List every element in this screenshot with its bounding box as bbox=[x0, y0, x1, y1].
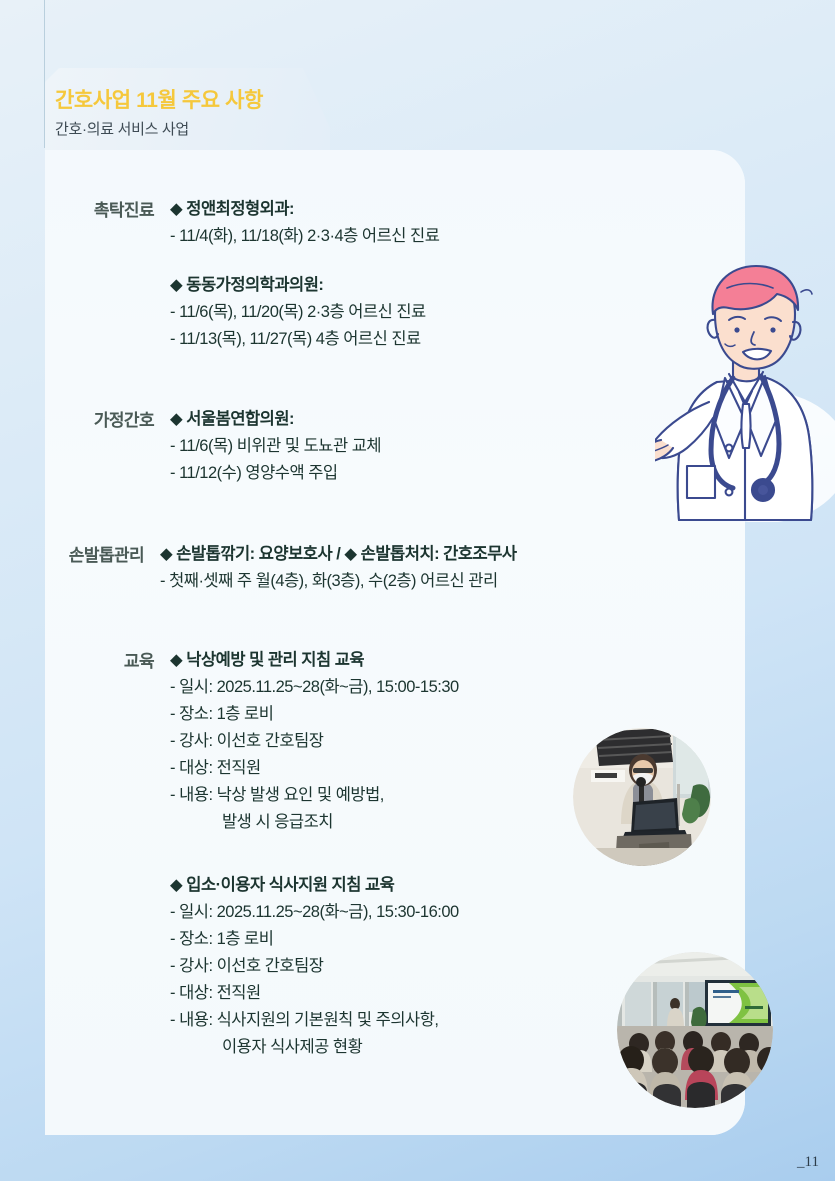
section-body: ◆ 손발톱깎기: 요양보호사 / ◆ 손발톱처치: 간호조무사 - 첫째·셋째 … bbox=[160, 541, 735, 595]
block-line: - 첫째·셋째 주 월(4층), 화(3층), 수(2층) 어르신 관리 bbox=[160, 568, 735, 595]
block-head: ◆ 손발톱깎기: 요양보호사 / ◆ 손발톱처치: 간호조무사 bbox=[160, 541, 735, 568]
block-head: ◆ 정앤최정형외과: bbox=[170, 196, 735, 223]
page-root: 간호사업 11월 주요 사항 간호·의료 서비스 사업 촉탁진료 ◆ 정앤최정형… bbox=[0, 0, 835, 1181]
section-label: 교육 bbox=[45, 647, 170, 672]
section-sonbaltop-gwanri: 손발톱관리 ◆ 손발톱깎기: 요양보호사 / ◆ 손발톱처치: 간호조무사 - … bbox=[35, 541, 735, 595]
audience-photo bbox=[617, 952, 773, 1108]
block-line: - 11/12(수) 영양수액 주입 bbox=[170, 460, 735, 487]
left-divider bbox=[44, 0, 45, 148]
block: ◆ 서울봄연합의원: - 11/6(목) 비위관 및 도뇨관 교체 - 11/1… bbox=[170, 406, 735, 487]
block: ◆ 정앤최정형외과: - 11/4(화), 11/18(화) 2·3·4층 어르… bbox=[170, 196, 735, 250]
block: ◆ 동동가정의학과의원: - 11/6(목), 11/20(목) 2·3층 어르… bbox=[170, 272, 735, 353]
page-number: _11 bbox=[797, 1154, 819, 1171]
block-line: - 11/13(목), 11/27(목) 4층 어르신 진료 bbox=[170, 326, 735, 353]
block: ◆ 손발톱깎기: 요양보호사 / ◆ 손발톱처치: 간호조무사 - 첫째·셋째 … bbox=[160, 541, 735, 595]
section-label: 가정간호 bbox=[45, 406, 170, 431]
block-head: ◆ 서울봄연합의원: bbox=[170, 406, 735, 433]
block-head: ◆ 낙상예방 및 관리 지침 교육 bbox=[170, 647, 735, 674]
section-label: 손발톱관리 bbox=[35, 541, 160, 566]
section-body: ◆ 정앤최정형외과: - 11/4(화), 11/18(화) 2·3·4층 어르… bbox=[170, 196, 735, 353]
page-subtitle: 간호·의료 서비스 사업 bbox=[55, 118, 189, 139]
block-line: - 일시: 2025.11.25~28(화~금), 15:30-16:00 bbox=[170, 899, 735, 926]
block-head: ◆ 동동가정의학과의원: bbox=[170, 272, 735, 299]
block-head: ◆ 입소·이용자 식사지원 지침 교육 bbox=[170, 872, 735, 899]
lecture-photo bbox=[573, 728, 711, 866]
block-line: - 장소: 1층 로비 bbox=[170, 926, 735, 953]
block-line: - 일시: 2025.11.25~28(화~금), 15:00-15:30 bbox=[170, 674, 735, 701]
page-title: 간호사업 11월 주요 사항 bbox=[55, 84, 263, 114]
block-line: - 11/4(화), 11/18(화) 2·3·4층 어르신 진료 bbox=[170, 223, 735, 250]
section-chotak-jinryo: 촉탁진료 ◆ 정앤최정형외과: - 11/4(화), 11/18(화) 2·3·… bbox=[45, 196, 735, 353]
block-line: - 11/6(목), 11/20(목) 2·3층 어르신 진료 bbox=[170, 299, 735, 326]
block-line: - 장소: 1층 로비 bbox=[170, 701, 735, 728]
section-gajeong-ganho: 가정간호 ◆ 서울봄연합의원: - 11/6(목) 비위관 및 도뇨관 교체 -… bbox=[45, 406, 735, 487]
block-line: - 11/6(목) 비위관 및 도뇨관 교체 bbox=[170, 433, 735, 460]
section-body: ◆ 서울봄연합의원: - 11/6(목) 비위관 및 도뇨관 교체 - 11/1… bbox=[170, 406, 735, 487]
section-label: 촉탁진료 bbox=[45, 196, 170, 221]
